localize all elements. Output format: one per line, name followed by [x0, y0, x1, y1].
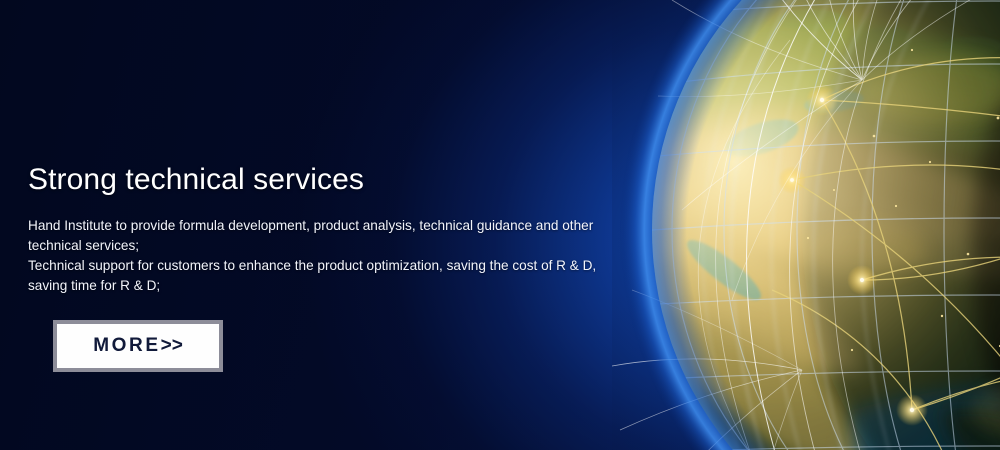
description-paragraph-2: Technical support for customers to enhan…	[28, 256, 628, 296]
technical-services-banner: Strong technical services Hand Institute…	[0, 0, 1000, 450]
banner-content: Strong technical services Hand Institute…	[28, 0, 628, 450]
description-paragraph-1: Hand Institute to provide formula develo…	[28, 216, 628, 256]
banner-description: Hand Institute to provide formula develo…	[28, 216, 628, 296]
more-button-text: MORE	[93, 335, 160, 356]
more-button-label: MORE>>	[93, 335, 183, 357]
page-title: Strong technical services	[28, 162, 364, 198]
double-chevron-right-icon: >>	[161, 335, 183, 356]
more-button[interactable]: MORE>>	[53, 320, 223, 372]
